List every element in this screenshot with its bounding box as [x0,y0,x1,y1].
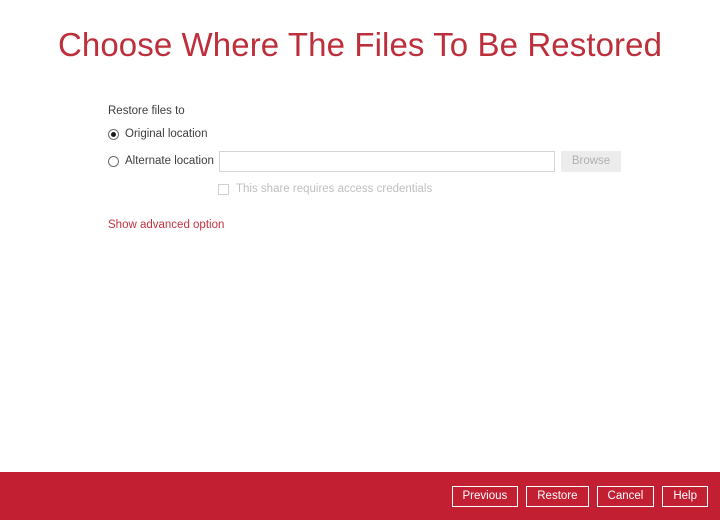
footer-button-group: Previous Restore Cancel Help [452,486,709,507]
radio-option-alternate-location-row[interactable]: Alternate location Browse [108,149,668,173]
browse-button[interactable]: Browse [561,151,621,172]
page-title: Choose Where The Files To Be Restored [0,26,720,64]
alternate-location-path-input[interactable] [219,151,555,172]
restore-destination-form: Restore files to Original location Alter… [108,104,668,233]
previous-button[interactable]: Previous [452,486,519,507]
radio-alternate-location-indicator[interactable] [108,156,119,167]
show-advanced-option-link[interactable]: Show advanced option [108,218,224,232]
radio-original-location-label: Original location [125,127,207,141]
cancel-button[interactable]: Cancel [597,486,655,507]
restore-button[interactable]: Restore [526,486,588,507]
help-button[interactable]: Help [662,486,708,507]
radio-original-location-indicator[interactable] [108,129,119,140]
radio-option-original-location[interactable]: Original location [108,123,668,145]
credentials-checkbox-label: This share requires access credentials [236,182,432,196]
credentials-checkbox[interactable] [218,184,229,195]
restore-files-to-label: Restore files to [108,104,668,118]
radio-alternate-location-label: Alternate location [125,154,217,168]
credentials-checkbox-row[interactable]: This share requires access credentials [218,179,668,199]
footer-bar: Previous Restore Cancel Help [0,472,720,520]
